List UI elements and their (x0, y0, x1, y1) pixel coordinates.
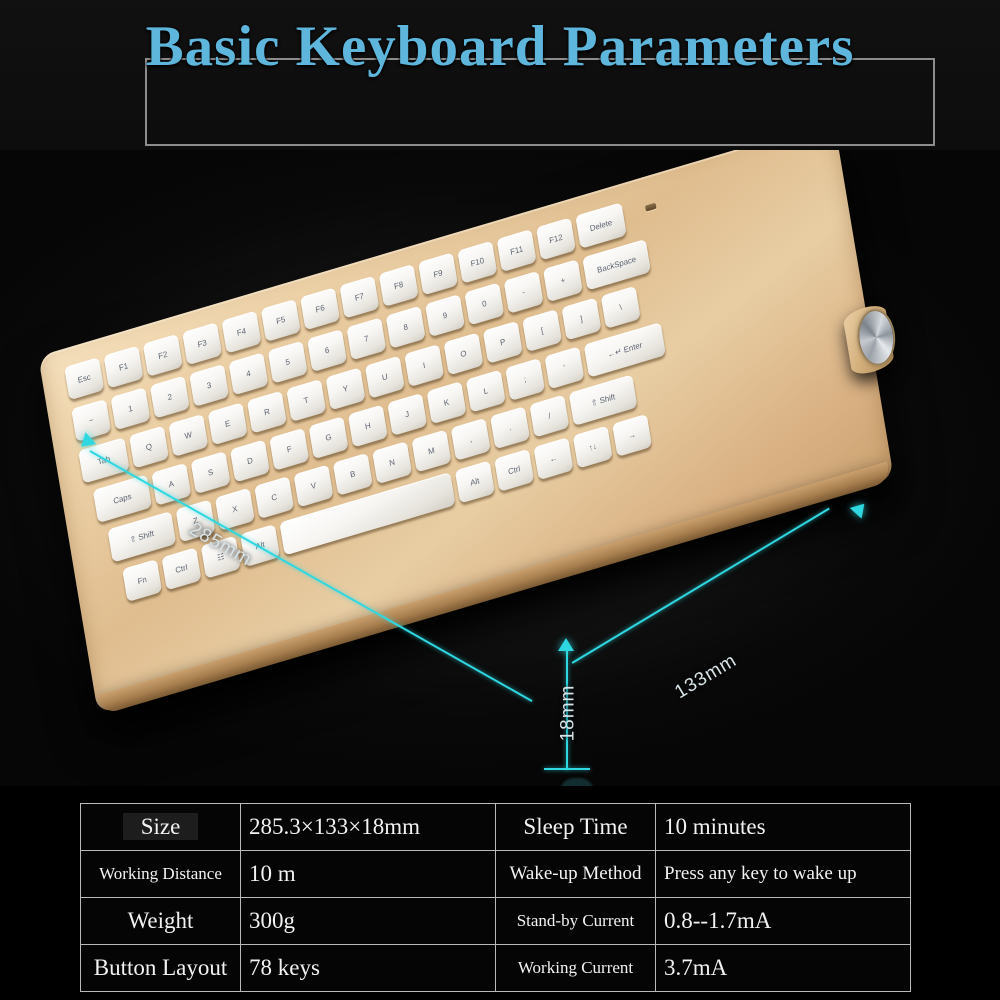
table-row: Button Layout 78 keys Working Current 3.… (81, 945, 911, 992)
cell-label-working-current: Working Current (496, 945, 656, 992)
dimension-label-height: 18mm (557, 685, 579, 742)
key-g: G (309, 416, 349, 459)
key-semicolon: ; (505, 358, 545, 401)
cell-label-size: Size (81, 804, 241, 851)
key-shift-right: ⇧ Shift (569, 374, 638, 426)
diamond-cut-cap-icon (856, 307, 897, 368)
key-u: U (365, 356, 405, 399)
key-minus: - (504, 271, 544, 314)
key-4: 4 (228, 352, 268, 395)
cell-value-standby-current: 0.8--1.7mA (656, 898, 911, 945)
key-c: C (254, 476, 294, 519)
size-label-highlight: Size (123, 813, 199, 840)
key-backspace: BackSpace (582, 239, 651, 291)
dimension-tick-height (544, 768, 590, 770)
key-n: N (372, 441, 412, 484)
key-y: Y (326, 367, 366, 410)
key-fn: Fn (122, 559, 162, 602)
key-period: . (490, 406, 530, 449)
key-arrow-right: → (612, 414, 652, 457)
key-q: Q (129, 426, 169, 469)
table-row: Working Distance 10 m Wake-up Method Pre… (81, 851, 911, 898)
page-title: Basic Keyboard Parameters (0, 14, 1000, 80)
key-8: 8 (386, 306, 426, 349)
cell-value-working-current: 3.7mA (656, 945, 911, 992)
key-tilde: ~ (71, 399, 111, 442)
key-m: M (411, 430, 451, 473)
key-l: L (466, 370, 506, 413)
key-i: I (404, 344, 444, 387)
key-p: P (483, 321, 523, 364)
key-3: 3 (189, 364, 229, 407)
key-5: 5 (268, 341, 308, 384)
keyboard-illustration: Esc F1 F2 F3 F4 F5 F6 F7 F8 F9 F10 F11 F… (28, 150, 962, 790)
table-row: Size 285.3×133×18mm Sleep Time 10 minute… (81, 804, 911, 851)
cell-label-wakeup-method: Wake-up Method (496, 851, 656, 898)
key-6: 6 (307, 329, 347, 372)
cell-value-weight: 300g (241, 898, 496, 945)
table-row: Weight 300g Stand-by Current 0.8--1.7mA (81, 898, 911, 945)
key-o: O (443, 332, 483, 375)
key-bracket-left: [ (522, 309, 562, 352)
cell-value-wakeup-method: Press any key to wake up (656, 851, 911, 898)
key-a: A (151, 463, 191, 506)
key-9: 9 (425, 294, 465, 337)
key-r: R (247, 391, 287, 434)
header-banner: Basic Keyboard Parameters (0, 0, 1000, 172)
key-7: 7 (346, 317, 386, 360)
cell-label-weight: Weight (81, 898, 241, 945)
cell-label-standby-current: Stand-by Current (496, 898, 656, 945)
key-t: T (286, 379, 326, 422)
cell-label-button-layout: Button Layout (81, 945, 241, 992)
spec-table-band: Size 285.3×133×18mm Sleep Time 10 minute… (0, 786, 1000, 1000)
key-0: 0 (464, 282, 504, 325)
key-bracket-right: ] (561, 297, 601, 340)
key-f: F (269, 428, 309, 471)
cell-label-sleep-time: Sleep Time (496, 804, 656, 851)
spec-table: Size 285.3×133×18mm Sleep Time 10 minute… (80, 803, 911, 992)
key-quote: ' (544, 346, 584, 389)
key-plus: + (543, 259, 583, 302)
cell-value-button-layout: 78 keys (241, 945, 496, 992)
cell-value-size: 285.3×133×18mm (241, 804, 496, 851)
key-comma: , (451, 418, 491, 461)
key-w: W (168, 414, 208, 457)
key-e: E (208, 402, 248, 445)
key-s: S (191, 451, 231, 494)
key-1: 1 (110, 387, 150, 430)
product-spec-page: Basic Keyboard Parameters Esc F1 F2 F3 F… (0, 0, 1000, 1000)
key-arrow-updown: ↑↓ (573, 426, 613, 469)
cell-label-working-distance: Working Distance (81, 851, 241, 898)
key-k: K (426, 381, 466, 424)
keyboard-hinge-foot (842, 302, 895, 378)
key-ctrl-left: Ctrl (161, 547, 201, 590)
cell-value-working-distance: 10 m (241, 851, 496, 898)
key-j: J (387, 393, 427, 436)
key-alt-right: Alt (455, 460, 495, 503)
key-2: 2 (150, 376, 190, 419)
key-slash: / (529, 395, 569, 438)
key-v: V (293, 464, 333, 507)
cell-value-sleep-time: 10 minutes (656, 804, 911, 851)
key-h: H (348, 405, 388, 448)
product-photo-stage: Esc F1 F2 F3 F4 F5 F6 F7 F8 F9 F10 F11 F… (0, 150, 1000, 790)
key-shift-left: ⇧ Shift (107, 511, 176, 563)
key-b: B (333, 453, 373, 496)
key-backslash: \ (601, 286, 641, 329)
key-d: D (230, 439, 270, 482)
key-arrow-left: ← (533, 437, 573, 480)
key-ctrl-right: Ctrl (494, 449, 534, 492)
